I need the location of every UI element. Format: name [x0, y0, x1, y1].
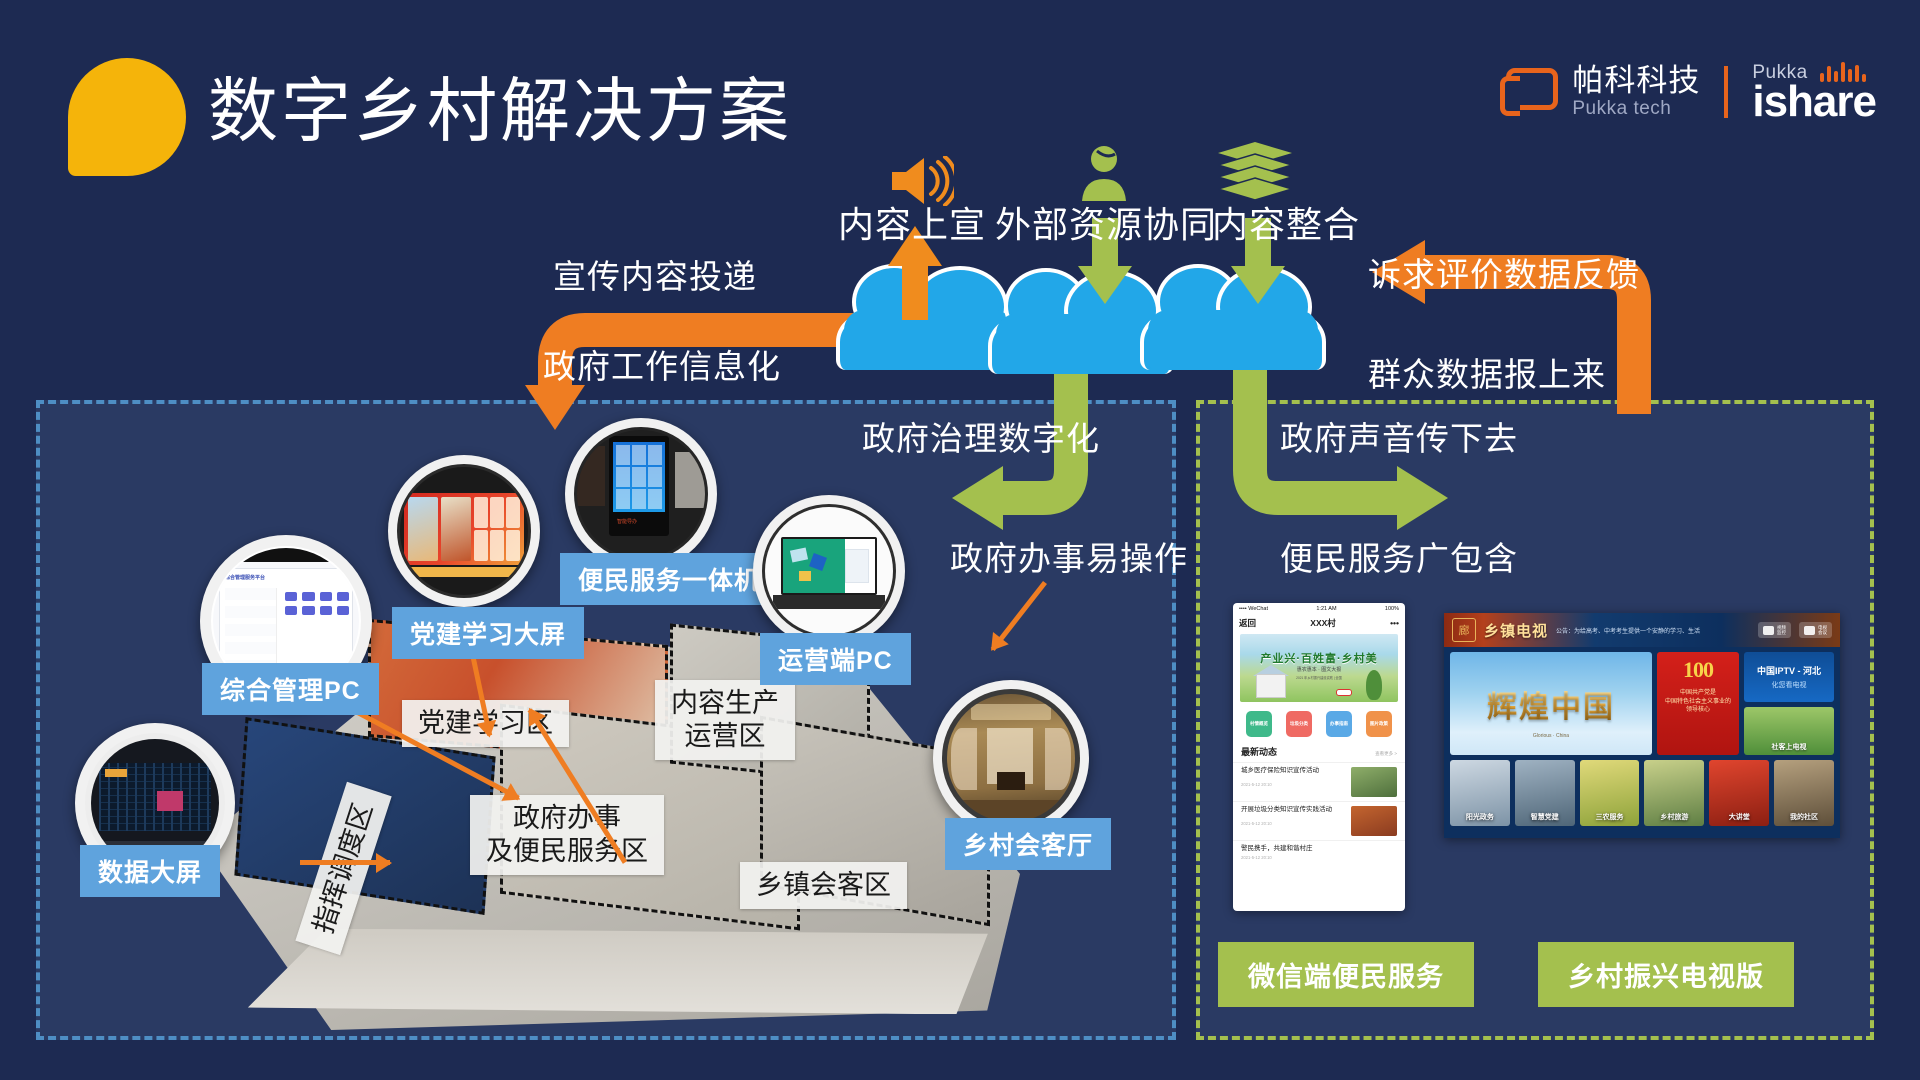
tv-category-card[interactable]: 阳光政务: [1450, 760, 1510, 826]
cloud-label-3: 内容整合: [1212, 196, 1360, 248]
phone-hero-line3: 2021 年乡村振兴建设实践 | 全国: [1240, 675, 1398, 680]
phone-news-item-title: 警民携手，共建和谐村庄: [1241, 845, 1397, 853]
connector-data-wall: [300, 860, 390, 865]
tv-body: 辉煌中国 Glorious · China 100 中国共产党是 中国特色社会主…: [1444, 647, 1840, 755]
tv-red-card-line2: 中国特色社会主义事业的: [1665, 698, 1731, 707]
slide-canvas: 数字乡村解决方案 帕科科技 Pukka tech Pukka ishare: [0, 0, 1920, 1080]
tv-iptv-card[interactable]: 中国IPTV - 河北 化您看电视: [1744, 652, 1834, 702]
tv-category-card[interactable]: 三农服务: [1580, 760, 1640, 826]
tv-iptv-title: 中国IPTV - 河北: [1757, 664, 1821, 677]
phone-back-button[interactable]: 返回: [1239, 617, 1256, 629]
phone-quick-icon-0[interactable]: 村情概览: [1246, 711, 1272, 737]
phone-news-thumb: [1351, 806, 1397, 836]
wechat-phone-mockup[interactable]: •••• WeChat 1:21 AM 100% 返回 XXX村 ••• 产业兴…: [1233, 603, 1405, 911]
cloud-label-2: 外部资源协同: [995, 196, 1217, 248]
tv-meeting-icon: [1804, 626, 1815, 635]
tv-family-label: 社客上电视: [1772, 742, 1807, 752]
flow-label-mid-left-bottom: 政府办事易操作: [950, 532, 1188, 580]
tv-red-card[interactable]: 100 中国共产党是 中国特色社会主义事业的 领导核心: [1657, 652, 1739, 755]
zone-label-content-ops-line1: 内容生产: [671, 687, 779, 720]
village-tv-mockup[interactable]: 廊 乡镇电视 公告：为给高考、中考考生提供一个安静的学习、生活 视频 监控 电视…: [1444, 613, 1840, 838]
flow-label-mid-right-bottom: 便民服务广包含: [1280, 532, 1518, 580]
cloud-label-1: 内容上宣: [838, 196, 986, 248]
phone-carrier: •••• WeChat: [1239, 606, 1268, 612]
tv-category-label: 我的社区: [1790, 812, 1818, 822]
zone-label-town-reception: 乡镇会客区: [740, 862, 907, 909]
phone-title: XXX村: [1310, 617, 1336, 629]
cloud-3: [1140, 278, 1326, 370]
tv-category-card[interactable]: 我的社区: [1774, 760, 1834, 826]
right-tag-wechat-services[interactable]: 微信端便民服务: [1218, 942, 1474, 1007]
phone-news-item-title: 城乡医疗保险知识宣传活动: [1241, 767, 1345, 775]
phone-battery: 100%: [1385, 606, 1399, 612]
device-tag-ops-pc[interactable]: 运营端PC: [760, 633, 911, 685]
flow-label-mid-right-top: 政府声音传下去: [1280, 412, 1518, 460]
phone-hero-line2: 惠农惠本 · 图文大报: [1240, 666, 1398, 673]
tv-button-video-monitor-l2: 监控: [1777, 630, 1786, 635]
tv-category-label: 大讲堂: [1729, 812, 1750, 822]
phone-status-bar: •••• WeChat 1:21 AM 100%: [1233, 603, 1405, 615]
video-monitor-icon: [1763, 626, 1774, 635]
phone-hero-banner: 产业兴·百姓富·乡村美 惠农惠本 · 图文大报 2021 年乡村振兴建设实践 |…: [1240, 634, 1398, 702]
tv-header: 廊 乡镇电视 公告：为给高考、中考考生提供一个安静的学习、生活 视频 监控 电视…: [1444, 613, 1840, 647]
right-tag-tv-edition[interactable]: 乡村振兴电视版: [1538, 942, 1794, 1007]
flow-label-right-bottom: 群众数据报上来: [1368, 348, 1606, 396]
tv-red-card-number: 100: [1683, 659, 1713, 681]
tv-category-card[interactable]: 大讲堂: [1709, 760, 1769, 826]
phone-news-thumb: [1351, 767, 1397, 797]
tv-red-card-line3: 领导核心: [1665, 706, 1731, 715]
tv-category-card[interactable]: 智慧党建: [1515, 760, 1575, 826]
flow-label-left-top: 宣传内容投递: [553, 250, 757, 298]
phone-news-item-title: 开展垃圾分类知识宣传实践活动: [1241, 806, 1345, 814]
phone-hero-line1: 产业兴·百姓富·乡村美: [1240, 650, 1398, 666]
phone-news-item-date: 2021-5-12 20:10: [1241, 821, 1345, 826]
tv-red-card-line1: 中国共产党是: [1665, 689, 1731, 698]
flow-label-left-bottom: 政府工作信息化: [543, 340, 781, 388]
device-tag-village-reception[interactable]: 乡村会客厅: [945, 818, 1111, 870]
phone-news-item-date: 2021-5-12 20:10: [1241, 782, 1345, 787]
phone-news-item[interactable]: 警民携手，共建和谐村庄 2021-5-12 20:10: [1233, 840, 1405, 864]
tv-main-subtitle: Glorious · China: [1450, 733, 1652, 739]
bubble-ops-pc[interactable]: [753, 495, 905, 647]
bubble-service-kiosk[interactable]: 智能导办: [565, 418, 717, 570]
tv-notice: 公告：为给高考、中考考生提供一个安静的学习、生活: [1556, 626, 1750, 635]
phone-time: 1:21 AM: [1316, 606, 1336, 612]
tv-main-feature[interactable]: 辉煌中国 Glorious · China: [1450, 652, 1652, 755]
flow-label-right-top: 诉求评价数据反馈: [1368, 248, 1640, 296]
tv-iptv-sub: 化您看电视: [1772, 680, 1807, 690]
tv-button-tv-meeting[interactable]: 电视 会议: [1799, 622, 1832, 638]
phone-news-item[interactable]: 开展垃圾分类知识宣传实践活动 2021-5-12 20:10: [1233, 801, 1405, 840]
phone-quick-icon-1[interactable]: 垃圾分类: [1286, 711, 1312, 737]
bubble-party-bigscreen[interactable]: [388, 455, 540, 607]
phone-quick-icon-2[interactable]: 办事指南: [1326, 711, 1352, 737]
phone-quick-icon-3[interactable]: 图片政策: [1366, 711, 1392, 737]
phone-news-section-header: 最新动态 查看更多 >: [1233, 743, 1405, 762]
tv-category-card[interactable]: 乡村旅游: [1644, 760, 1704, 826]
zone-label-gov-service: 政府办事 及便民服务区: [470, 795, 664, 875]
tv-button-video-monitor[interactable]: 视频 监控: [1758, 622, 1791, 638]
tv-button-tv-meeting-l2: 会议: [1818, 630, 1827, 635]
phone-news-item-date: 2021-5-12 20:10: [1241, 855, 1397, 860]
phone-news-item[interactable]: 城乡医疗保险知识宣传活动 2021-5-12 20:10: [1233, 762, 1405, 801]
phone-more-button[interactable]: •••: [1390, 618, 1399, 628]
bubble-village-reception[interactable]: [933, 680, 1089, 836]
phone-news-title: 最新动态: [1241, 745, 1277, 758]
device-tag-admin-pc[interactable]: 综合管理PC: [202, 663, 379, 715]
flow-label-mid-left-top: 政府治理数字化: [862, 412, 1100, 460]
books-icon: [1218, 142, 1292, 200]
device-tag-service-kiosk[interactable]: 便民服务一体机: [560, 553, 778, 605]
tv-logo-icon: 廊: [1452, 618, 1476, 642]
phone-nav-bar: 返回 XXX村 •••: [1233, 615, 1405, 634]
tv-category-label: 乡村旅游: [1660, 812, 1688, 822]
zone-label-content-ops-line2: 运营区: [671, 720, 779, 753]
tv-main-title: 辉煌中国: [1487, 682, 1615, 726]
tv-category-label: 智慧党建: [1531, 812, 1559, 822]
zone-label-gov-service-line1: 政府办事: [486, 802, 648, 835]
phone-quick-icons: 村情概览 垃圾分类 办事指南 图片政策: [1233, 702, 1405, 743]
tv-family-card[interactable]: 社客上电视: [1744, 707, 1834, 755]
device-tag-party-bigscreen[interactable]: 党建学习大屏: [392, 607, 584, 659]
device-tag-data-wall[interactable]: 数据大屏: [80, 845, 220, 897]
person-icon: [1080, 145, 1128, 201]
zone-label-content-ops: 内容生产 运营区: [655, 680, 795, 760]
tv-category-label: 三农服务: [1596, 812, 1624, 822]
tv-category-label: 阳光政务: [1466, 812, 1494, 822]
tv-brand: 乡镇电视: [1484, 620, 1548, 641]
phone-news-more[interactable]: 查看更多 >: [1375, 751, 1397, 757]
tv-category-strip: 阳光政务 智慧党建 三农服务 乡村旅游 大讲堂 我的社区: [1444, 755, 1840, 831]
